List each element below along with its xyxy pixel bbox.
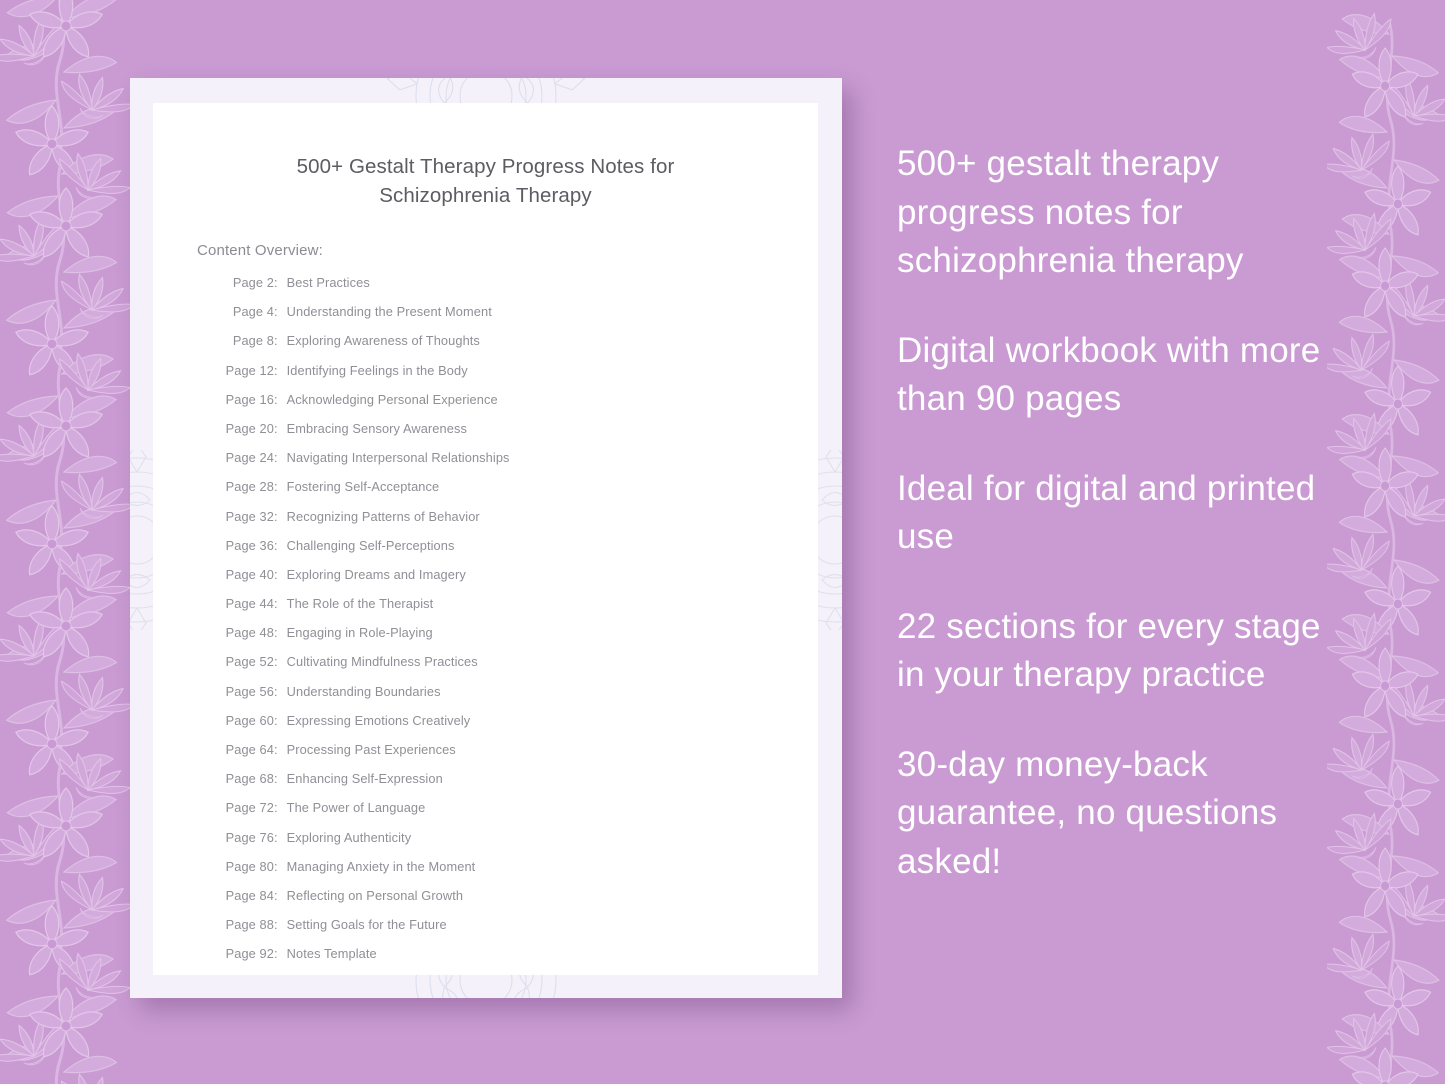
toc-row: Page 84:Reflecting on Personal Growth bbox=[220, 888, 800, 917]
toc-page-number: Page 44 bbox=[220, 596, 274, 611]
toc-topic-title: Exploring Authenticity bbox=[287, 830, 800, 845]
toc-topic-title: Acknowledging Personal Experience bbox=[287, 392, 800, 407]
toc-topic-title: Setting Goals for the Future bbox=[287, 917, 800, 932]
toc-separator: : bbox=[274, 567, 287, 582]
toc-topic-title: The Role of the Therapist bbox=[287, 596, 800, 611]
toc-separator: : bbox=[274, 946, 287, 961]
toc-row: Page 76:Exploring Authenticity bbox=[220, 830, 800, 859]
toc-page-number: Page 72 bbox=[220, 800, 274, 815]
toc-row: Page 36:Challenging Self-Perceptions bbox=[220, 538, 800, 567]
toc-row: Page 2:Best Practices bbox=[220, 275, 800, 304]
toc-topic-title: Identifying Feelings in the Body bbox=[287, 363, 800, 378]
toc-row: Page 72:The Power of Language bbox=[220, 800, 800, 829]
toc-row: Page 16:Acknowledging Personal Experienc… bbox=[220, 392, 800, 421]
toc-row: Page 24:Navigating Interpersonal Relatio… bbox=[220, 450, 800, 479]
floral-vine-left-icon bbox=[0, 0, 130, 1084]
product-card: 500+ Gestalt Therapy Progress Notes for … bbox=[130, 78, 842, 998]
toc-separator: : bbox=[274, 742, 287, 757]
toc-row: Page 56:Understanding Boundaries bbox=[220, 684, 800, 713]
toc-page-number: Page 76 bbox=[220, 830, 274, 845]
toc-separator: : bbox=[274, 859, 287, 874]
toc-row: Page 88:Setting Goals for the Future bbox=[220, 917, 800, 946]
toc-separator: : bbox=[274, 509, 287, 524]
toc-row: Page 60:Expressing Emotions Creatively bbox=[220, 713, 800, 742]
toc-row: Page 68:Enhancing Self-Expression bbox=[220, 771, 800, 800]
toc-page-number: Page 40 bbox=[220, 567, 274, 582]
toc-topic-title: Processing Past Experiences bbox=[287, 742, 800, 757]
toc-topic-title: Recognizing Patterns of Behavior bbox=[287, 509, 800, 524]
toc-page-number: Page 20 bbox=[220, 421, 274, 436]
toc-separator: : bbox=[274, 888, 287, 903]
promo-block: 30-day money-back guarantee, no question… bbox=[897, 741, 1327, 887]
toc-row: Page 4:Understanding the Present Moment bbox=[220, 304, 800, 333]
toc-topic-title: Notes Template bbox=[287, 946, 800, 961]
toc-separator: : bbox=[274, 830, 287, 845]
toc-separator: : bbox=[274, 538, 287, 553]
floral-vine-right-icon bbox=[1327, 0, 1445, 1084]
toc-row: Page 52:Cultivating Mindfulness Practice… bbox=[220, 654, 800, 683]
toc-topic-title: Exploring Awareness of Thoughts bbox=[287, 333, 800, 348]
toc-page-number: Page 60 bbox=[220, 713, 274, 728]
toc-separator: : bbox=[274, 333, 287, 348]
toc-separator: : bbox=[274, 479, 287, 494]
toc-row: Page 8:Exploring Awareness of Thoughts bbox=[220, 333, 800, 362]
toc-page-number: Page 8 bbox=[220, 333, 274, 348]
document-page: 500+ Gestalt Therapy Progress Notes for … bbox=[153, 103, 818, 975]
toc-separator: : bbox=[274, 363, 287, 378]
toc-page-number: Page 28 bbox=[220, 479, 274, 494]
table-of-contents: Page 2:Best PracticesPage 4:Understandin… bbox=[220, 275, 800, 976]
toc-page-number: Page 56 bbox=[220, 684, 274, 699]
toc-topic-title: Embracing Sensory Awareness bbox=[287, 421, 800, 436]
toc-separator: : bbox=[274, 421, 287, 436]
toc-row: Page 80:Managing Anxiety in the Moment bbox=[220, 859, 800, 888]
toc-row: Page 40:Exploring Dreams and Imagery bbox=[220, 567, 800, 596]
toc-row: Page 64:Processing Past Experiences bbox=[220, 742, 800, 771]
toc-separator: : bbox=[274, 654, 287, 669]
toc-topic-title: Challenging Self-Perceptions bbox=[287, 538, 800, 553]
toc-separator: : bbox=[274, 275, 287, 290]
toc-separator: : bbox=[274, 713, 287, 728]
toc-page-number: Page 2 bbox=[220, 275, 274, 290]
promo-block: 22 sections for every stage in your ther… bbox=[897, 603, 1327, 700]
toc-topic-title: Managing Anxiety in the Moment bbox=[287, 859, 800, 874]
toc-row: Page 32:Recognizing Patterns of Behavior bbox=[220, 509, 800, 538]
toc-separator: : bbox=[274, 625, 287, 640]
toc-separator: : bbox=[274, 450, 287, 465]
promo-block: Digital workbook with more than 90 pages bbox=[897, 327, 1327, 424]
toc-page-number: Page 68 bbox=[220, 771, 274, 786]
toc-page-number: Page 92 bbox=[220, 946, 274, 961]
content-overview-label: Content Overview: bbox=[197, 242, 323, 259]
toc-row: Page 48:Engaging in Role-Playing bbox=[220, 625, 800, 654]
toc-separator: : bbox=[274, 596, 287, 611]
toc-page-number: Page 64 bbox=[220, 742, 274, 757]
toc-row: Page 92:Notes Template bbox=[220, 946, 800, 975]
toc-topic-title: Enhancing Self-Expression bbox=[287, 771, 800, 786]
toc-separator: : bbox=[274, 684, 287, 699]
toc-page-number: Page 52 bbox=[220, 654, 274, 669]
toc-topic-title: Navigating Interpersonal Relationships bbox=[287, 450, 800, 465]
toc-separator: : bbox=[274, 304, 287, 319]
page-title-line-2: Schizophrenia Therapy bbox=[193, 181, 778, 210]
toc-topic-title: Understanding Boundaries bbox=[287, 684, 800, 699]
promo-block: Ideal for digital and printed use bbox=[897, 465, 1327, 562]
toc-page-number: Page 80 bbox=[220, 859, 274, 874]
toc-page-number: Page 4 bbox=[220, 304, 274, 319]
toc-row: Page 12:Identifying Feelings in the Body bbox=[220, 363, 800, 392]
toc-topic-title: The Power of Language bbox=[287, 800, 800, 815]
promo-text-column: 500+ gestalt therapy progress notes for … bbox=[897, 140, 1327, 886]
toc-page-number: Page 88 bbox=[220, 917, 274, 932]
toc-topic-title: Engaging in Role-Playing bbox=[287, 625, 800, 640]
toc-topic-title: Cultivating Mindfulness Practices bbox=[287, 654, 800, 669]
toc-separator: : bbox=[274, 392, 287, 407]
toc-page-number: Page 36 bbox=[220, 538, 274, 553]
toc-page-number: Page 48 bbox=[220, 625, 274, 640]
toc-topic-title: Best Practices bbox=[287, 275, 800, 290]
product-listing-image: 500+ Gestalt Therapy Progress Notes for … bbox=[0, 0, 1445, 1084]
toc-row: Page 28:Fostering Self-Acceptance bbox=[220, 479, 800, 508]
promo-block: 500+ gestalt therapy progress notes for … bbox=[897, 140, 1327, 286]
toc-topic-title: Exploring Dreams and Imagery bbox=[287, 567, 800, 582]
toc-topic-title: Reflecting on Personal Growth bbox=[287, 888, 800, 903]
toc-page-number: Page 12 bbox=[220, 363, 274, 378]
page-title: 500+ Gestalt Therapy Progress Notes for … bbox=[193, 152, 778, 210]
toc-separator: : bbox=[274, 800, 287, 815]
toc-row: Page 44:The Role of the Therapist bbox=[220, 596, 800, 625]
toc-page-number: Page 32 bbox=[220, 509, 274, 524]
toc-separator: : bbox=[274, 917, 287, 932]
page-title-line-1: 500+ Gestalt Therapy Progress Notes for bbox=[193, 152, 778, 181]
toc-topic-title: Expressing Emotions Creatively bbox=[287, 713, 800, 728]
toc-topic-title: Understanding the Present Moment bbox=[287, 304, 800, 319]
toc-page-number: Page 24 bbox=[220, 450, 274, 465]
toc-page-number: Page 84 bbox=[220, 888, 274, 903]
toc-row: Page 20:Embracing Sensory Awareness bbox=[220, 421, 800, 450]
toc-topic-title: Fostering Self-Acceptance bbox=[287, 479, 800, 494]
toc-separator: : bbox=[274, 771, 287, 786]
toc-page-number: Page 16 bbox=[220, 392, 274, 407]
